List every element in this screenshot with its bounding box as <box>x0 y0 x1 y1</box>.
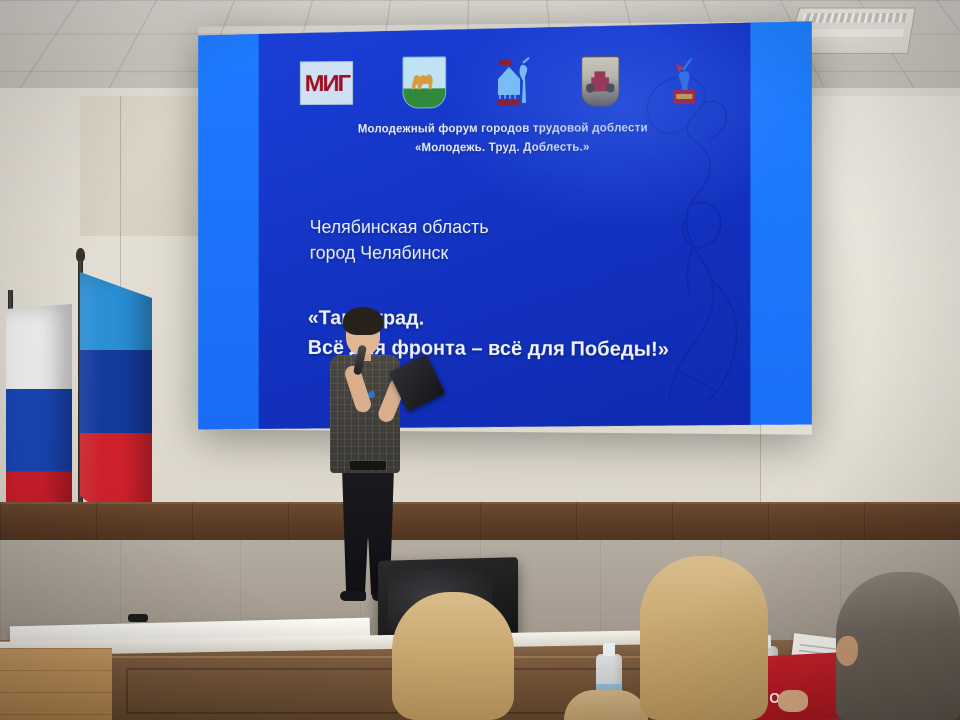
mig-logo-text: МИГ <box>304 70 348 97</box>
flag-cloth-donetsk <box>80 272 152 532</box>
attendee-hand <box>778 690 808 712</box>
slide-region-text: Челябинская область город Челябинск <box>310 214 489 266</box>
presenter-shoe-left <box>340 591 366 601</box>
slide-header-line-1: Молодежный форум городов трудовой доблес… <box>259 119 751 140</box>
red-monument-emblem-icon <box>669 56 699 107</box>
slide-header: Молодежный форум городов трудовой доблес… <box>259 119 751 159</box>
emblem-row: МИГ <box>300 53 700 111</box>
attendee-blonde-right <box>640 556 768 720</box>
mig-logo-icon: МИГ <box>300 61 353 105</box>
led-presentation-screen: МИГ <box>198 21 812 434</box>
presenter-hair <box>343 307 383 335</box>
blue-monument-emblem-icon <box>495 57 531 107</box>
screen-surface: МИГ <box>198 21 812 434</box>
presenter-belt <box>350 461 386 470</box>
desk-front-panel <box>112 656 412 720</box>
desk-microphone-icon <box>128 614 148 622</box>
chelyabinsk-coat-of-arms-icon <box>402 56 446 108</box>
presentation-photo-scene: МИГ <box>0 0 960 720</box>
slide-left-band <box>198 26 259 430</box>
slide-region-line-1: Челябинская область <box>310 214 489 240</box>
attendee-blonde-left <box>392 592 514 720</box>
city-shield-emblem-icon <box>581 56 619 106</box>
desk-side-cabinet <box>0 648 112 720</box>
slide-header-line-2: «Молодежь. Труд. Доблесть.» <box>259 138 751 159</box>
slide-region-line-2: город Челябинск <box>310 240 489 266</box>
attendee-ear <box>836 636 858 666</box>
